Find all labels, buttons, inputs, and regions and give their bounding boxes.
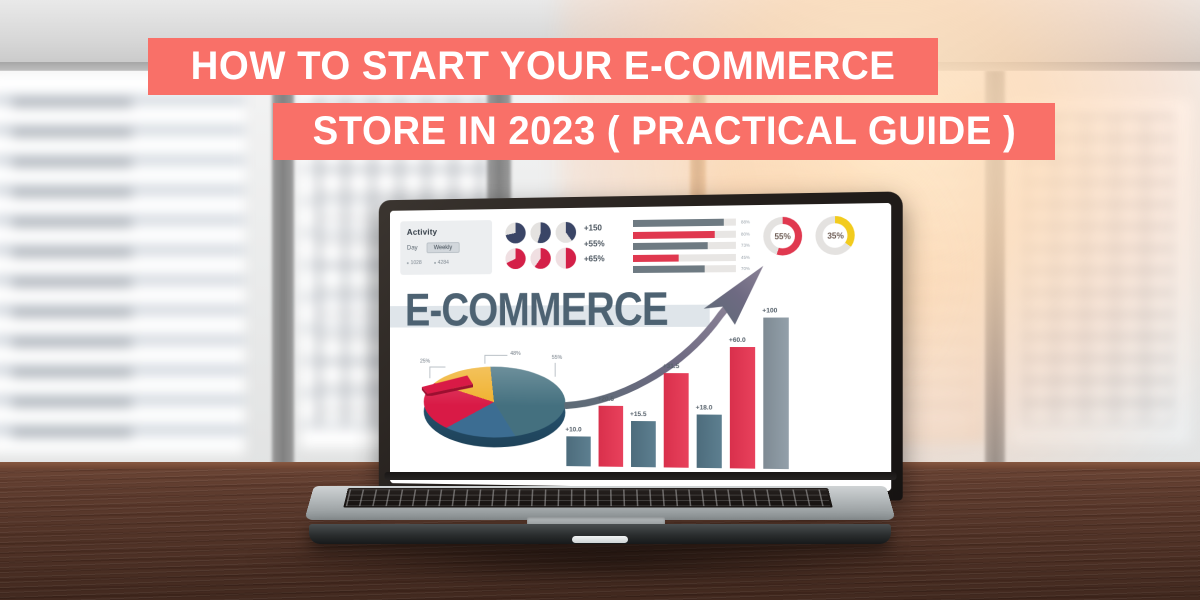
hbar-row: 88% — [633, 218, 753, 227]
title-banner-line-1: HOW TO START YOUR E-COMMERCE — [148, 38, 938, 95]
screenshot-stage: Activity Day Weekly 1028 4284 — [0, 0, 1200, 600]
hbar-pct: 73% — [741, 243, 750, 248]
donut-label: 55% — [763, 217, 802, 256]
pie-exploded-slice — [418, 370, 477, 396]
pie-leader-2 — [484, 355, 485, 364]
plus-value-3: +65% — [584, 254, 605, 263]
donut-gauge-55: 55% — [763, 217, 802, 256]
vertical-bar-chart: +10.0 +20.5 +15.5 +31.5 +18.0 — [566, 301, 816, 469]
pie-icon-3 — [556, 222, 576, 243]
activity-title: Activity — [407, 226, 486, 237]
hbar-pct: 45% — [741, 254, 750, 259]
toggle-day[interactable]: Day — [407, 245, 418, 252]
pie-leader-3 — [555, 363, 556, 377]
bar-label: +20.5 — [598, 396, 614, 403]
laptop-base — [300, 474, 900, 548]
bar-label: +31.5 — [663, 363, 680, 370]
keyboard-keys[interactable] — [346, 489, 831, 506]
pie-leader-1 — [429, 367, 430, 379]
hbar-row: 80% — [633, 230, 753, 239]
building-far-left — [0, 74, 245, 454]
laptop: Activity Day Weekly 1028 4284 — [300, 196, 900, 580]
plus-value-1: +150 — [584, 223, 605, 232]
title-line-1-text: HOW TO START YOUR E-COMMERCE — [191, 44, 896, 89]
bar-label: +10.0 — [565, 426, 581, 433]
pie-label-48: 48% — [510, 351, 520, 357]
pie-leader-2b — [484, 355, 507, 356]
laptop-lid: Activity Day Weekly 1028 4284 — [379, 191, 903, 500]
bar-label: +100 — [762, 307, 777, 314]
activity-stat-2: 4284 — [434, 260, 449, 266]
activity-toggle-row[interactable]: Day Weekly — [407, 242, 486, 254]
donut-label: 35% — [816, 216, 855, 255]
laptop-display: Activity Day Weekly 1028 4284 — [390, 203, 891, 491]
pie-icon-1 — [505, 223, 525, 244]
donut-gauge-35: 35% — [816, 216, 855, 255]
title-banner-line-2: STORE IN 2023 ( PRACTICAL GUIDE ) — [273, 103, 1055, 160]
bar-label: +15.5 — [630, 411, 647, 418]
bar-label: +18.0 — [696, 404, 713, 411]
activity-stats: 1028 4284 — [407, 259, 486, 266]
pie-chart-3d: 25% 48% 55% — [418, 355, 571, 459]
pie-leader-1b — [429, 367, 445, 368]
hbar-pct: 88% — [741, 219, 750, 224]
plus-value-2: +55% — [584, 239, 605, 248]
hbar-pct: 80% — [741, 231, 750, 236]
hbar-row: 73% — [633, 242, 753, 250]
keyboard[interactable] — [343, 488, 832, 508]
activity-stat-1: 1028 — [407, 260, 422, 266]
title-line-2-text: STORE IN 2023 ( PRACTICAL GUIDE ) — [312, 109, 1016, 154]
pie-icon-4 — [505, 248, 525, 269]
pie-label-55: 55% — [552, 355, 562, 361]
pie-label-25: 25% — [420, 359, 430, 365]
activity-card[interactable]: Activity Day Weekly 1028 4284 — [400, 220, 492, 275]
screen-content: Activity Day Weekly 1028 4284 — [390, 203, 891, 491]
toggle-weekly[interactable]: Weekly — [426, 242, 460, 253]
hbar-row: 45% — [633, 253, 753, 261]
pie-icon-2 — [530, 222, 550, 243]
donut-gauges: 55% 35% — [763, 216, 864, 261]
pie-icon-5 — [530, 248, 550, 269]
bar-label: +60.0 — [729, 337, 746, 344]
lid-latch[interactable] — [572, 536, 628, 543]
